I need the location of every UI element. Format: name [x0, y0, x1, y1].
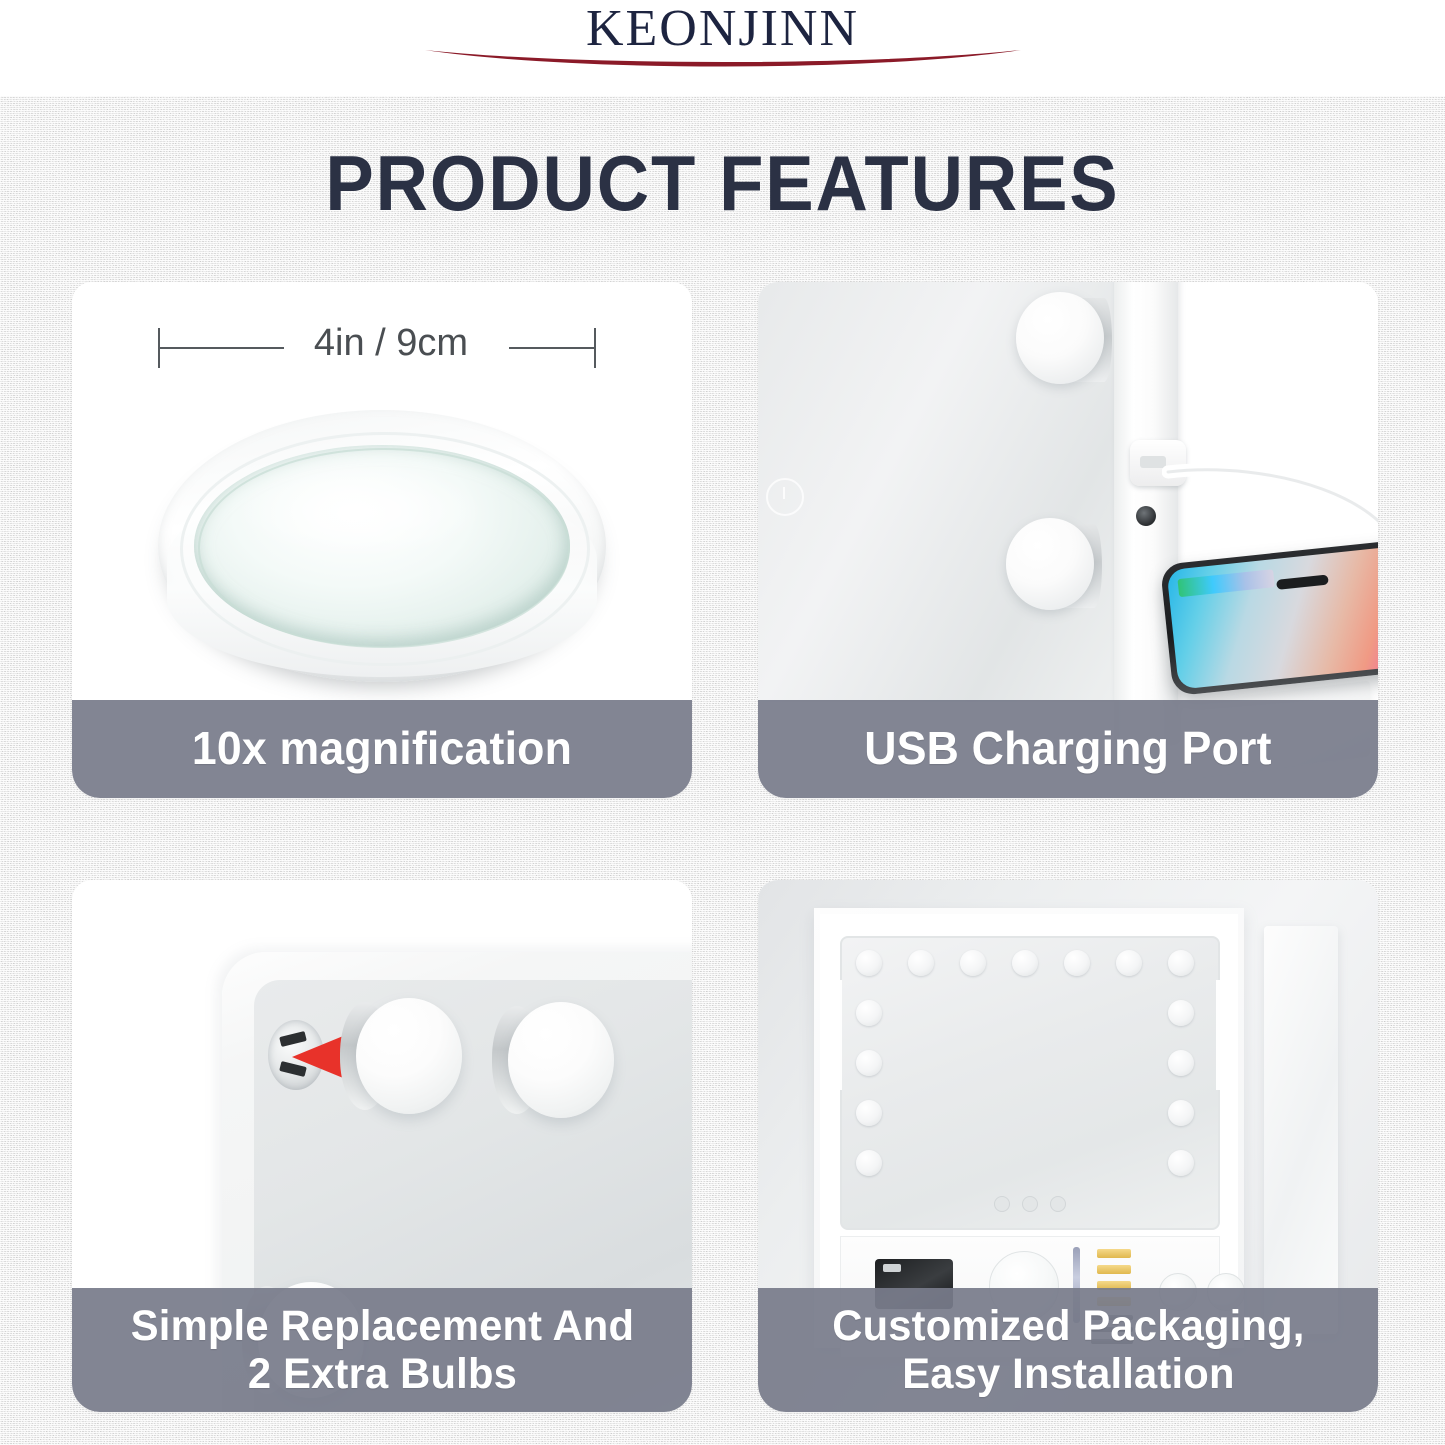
led-bulb [1016, 292, 1112, 388]
led-bulb [856, 1150, 882, 1176]
led-bulb [492, 1002, 614, 1120]
touch-control-panel [994, 1196, 1066, 1212]
magnifier-lens-illustration [158, 410, 606, 682]
led-bulb [1168, 1150, 1194, 1176]
led-bulb [960, 950, 986, 976]
dimension-tick-right [594, 328, 596, 368]
brand-header: KEONJINN [0, 0, 1445, 96]
brand-swoosh-icon [423, 48, 1023, 74]
phone-screen [1166, 542, 1378, 689]
wall-anchor [1097, 1265, 1131, 1274]
led-bulb [1168, 1000, 1194, 1026]
caption-line-2: Easy Installation [832, 1350, 1304, 1398]
led-bulb [1116, 950, 1142, 976]
power-touch-icon [766, 478, 804, 516]
caption-line-1: USB Charging Port [864, 723, 1271, 775]
caption-line-2: 2 Extra Bulbs [130, 1350, 633, 1398]
feature-card-magnification[interactable]: 4in / 9cm 10x magnification [72, 282, 692, 798]
feature-caption-usb-charging: USB Charging Port [758, 700, 1378, 798]
touch-button-icon [1022, 1196, 1038, 1212]
page-title: PRODUCT FEATURES [51, 138, 1395, 229]
feature-caption-bulb-replacement: Simple Replacement And 2 Extra Bulbs [72, 1288, 692, 1412]
dimension-rule-right [509, 347, 595, 349]
led-bulb [1012, 950, 1038, 976]
feature-card-packaging[interactable]: Customized Packaging, Easy Installation [758, 880, 1378, 1412]
led-bulb [1064, 950, 1090, 976]
bulb-globe [356, 998, 462, 1114]
feature-caption-magnification: 10x magnification [72, 700, 692, 798]
mirror-stand-panel [1264, 926, 1338, 1334]
dimension-line: 4in / 9cm [158, 328, 596, 372]
led-bulb [856, 1050, 882, 1076]
bulb-globe [1006, 518, 1094, 610]
led-bulb [856, 1000, 882, 1026]
caption-line-1: Simple Replacement And [130, 1302, 633, 1350]
shipping-box [814, 908, 1244, 1348]
caption-line-1: Customized Packaging, [832, 1302, 1304, 1350]
product-features-sheet: KEONJINN PRODUCT FEATURES 4in / 9cm [0, 0, 1445, 1445]
led-bulb [856, 1100, 882, 1126]
packing-tape [820, 980, 842, 1090]
caption-line-1: 10x magnification [192, 723, 572, 775]
power-jack-icon [1136, 506, 1156, 526]
dimension-label: 4in / 9cm [276, 322, 506, 365]
dimension-rule-left [159, 347, 284, 349]
bulb-globe [1016, 292, 1104, 384]
wall-anchor [1097, 1249, 1131, 1258]
packing-tape [916, 914, 1066, 936]
packing-tape [1216, 980, 1238, 1090]
feature-caption-packaging: Customized Packaging, Easy Installation [758, 1288, 1378, 1412]
led-bulb [1168, 1100, 1194, 1126]
packed-vanity-mirror [840, 936, 1220, 1230]
feature-card-usb-charging[interactable]: USB Charging Port [758, 282, 1378, 798]
led-bulb [856, 950, 882, 976]
foam-insert [820, 914, 1238, 1342]
led-bulb [908, 950, 934, 976]
phone-statusbar [1177, 569, 1274, 597]
feature-card-bulb-replacement[interactable]: Simple Replacement And 2 Extra Bulbs [72, 880, 692, 1412]
lens-glass-highlight [239, 464, 481, 556]
bulb-globe [508, 1002, 614, 1118]
touch-button-icon [1050, 1196, 1066, 1212]
led-bulb [1168, 1050, 1194, 1076]
led-bulb [1006, 518, 1102, 614]
led-bulb [340, 998, 462, 1116]
touch-button-icon [994, 1196, 1010, 1212]
led-bulb [1168, 950, 1194, 976]
